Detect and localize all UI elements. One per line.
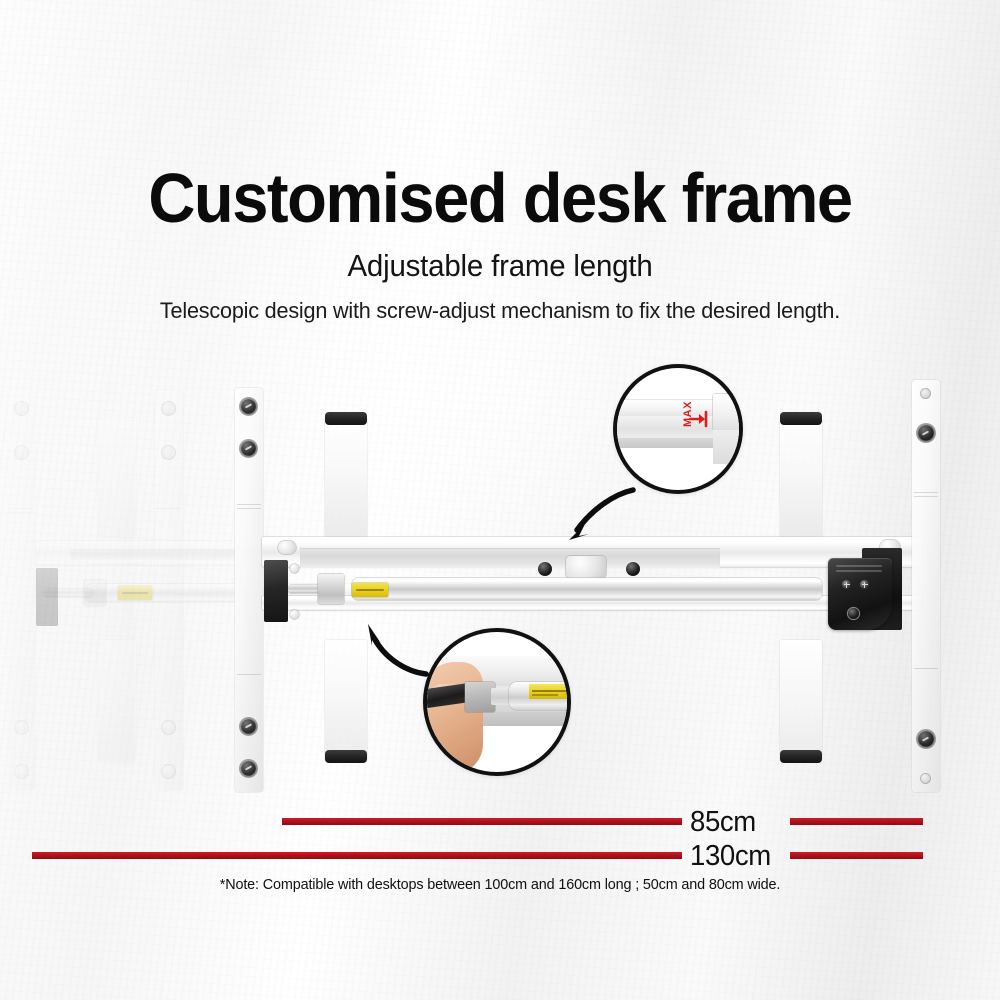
product-illustration <box>0 0 1000 1000</box>
ghost-bottom-bar-1 <box>98 640 136 760</box>
left-upper-foot-bar <box>325 418 367 538</box>
right-leg-bolt-top <box>917 424 935 442</box>
left-leg-bolt-top-1 <box>240 398 257 415</box>
hex-adjust-nut <box>318 574 344 604</box>
warning-sticker <box>352 583 388 597</box>
right-upper-foot-cap <box>780 412 822 425</box>
callout-max-extension: MAX <box>613 364 743 494</box>
telescopic-beam-channel <box>300 548 720 568</box>
beam-boss-mid-2 <box>626 562 640 576</box>
left-upper-foot-cap <box>325 412 367 425</box>
ghost-end-bracket <box>36 568 58 626</box>
right-upper-foot-bar <box>780 418 822 538</box>
compatibility-note: *Note: Compatible with desktops between … <box>20 876 980 893</box>
left-end-bracket <box>264 560 288 622</box>
left-leg-bolt-bottom-2 <box>240 760 257 777</box>
ghost-warning-sticker <box>118 586 152 600</box>
right-leg-column <box>912 380 940 792</box>
left-leg-column <box>235 388 263 792</box>
bracket-screw-1 <box>290 564 299 573</box>
callout-warning-sticker <box>529 684 571 699</box>
left-leg-bolt-bottom-1 <box>240 718 257 735</box>
right-lower-foot-bar <box>780 640 822 762</box>
actuator-tube <box>352 578 822 600</box>
motor-pivot-screw <box>848 608 859 619</box>
beam-boss-center-tab <box>566 556 606 578</box>
ghost-hex-nut <box>84 580 106 606</box>
bracket-screw-2 <box>290 610 299 619</box>
ghost-leg-1 <box>8 390 36 790</box>
left-lower-foot-cap <box>325 750 367 763</box>
product-marketing-image: Customised desk frame Adjustable frame l… <box>0 0 1000 1000</box>
callout-screw-adjust <box>423 628 571 776</box>
beam-boss-mid-1 <box>538 562 552 576</box>
right-leg-bolt-bottom <box>917 730 935 748</box>
hand-illustration <box>423 662 483 774</box>
left-leg-bolt-top-2 <box>240 440 257 457</box>
motor-gearbox <box>828 558 892 630</box>
arrow-to-max-callout <box>545 480 640 550</box>
page-title: Customised desk frame <box>35 163 965 233</box>
beam-boss-left <box>278 541 296 554</box>
right-lower-foot-cap <box>780 750 822 763</box>
ghost-top-bar-1 <box>98 418 136 538</box>
page-subtitle: Adjustable frame length <box>25 248 975 284</box>
max-arrow-icon <box>689 410 711 428</box>
page-description: Telescopic design with screw-adjust mech… <box>20 298 980 324</box>
arrow-to-screw-callout <box>348 612 438 682</box>
